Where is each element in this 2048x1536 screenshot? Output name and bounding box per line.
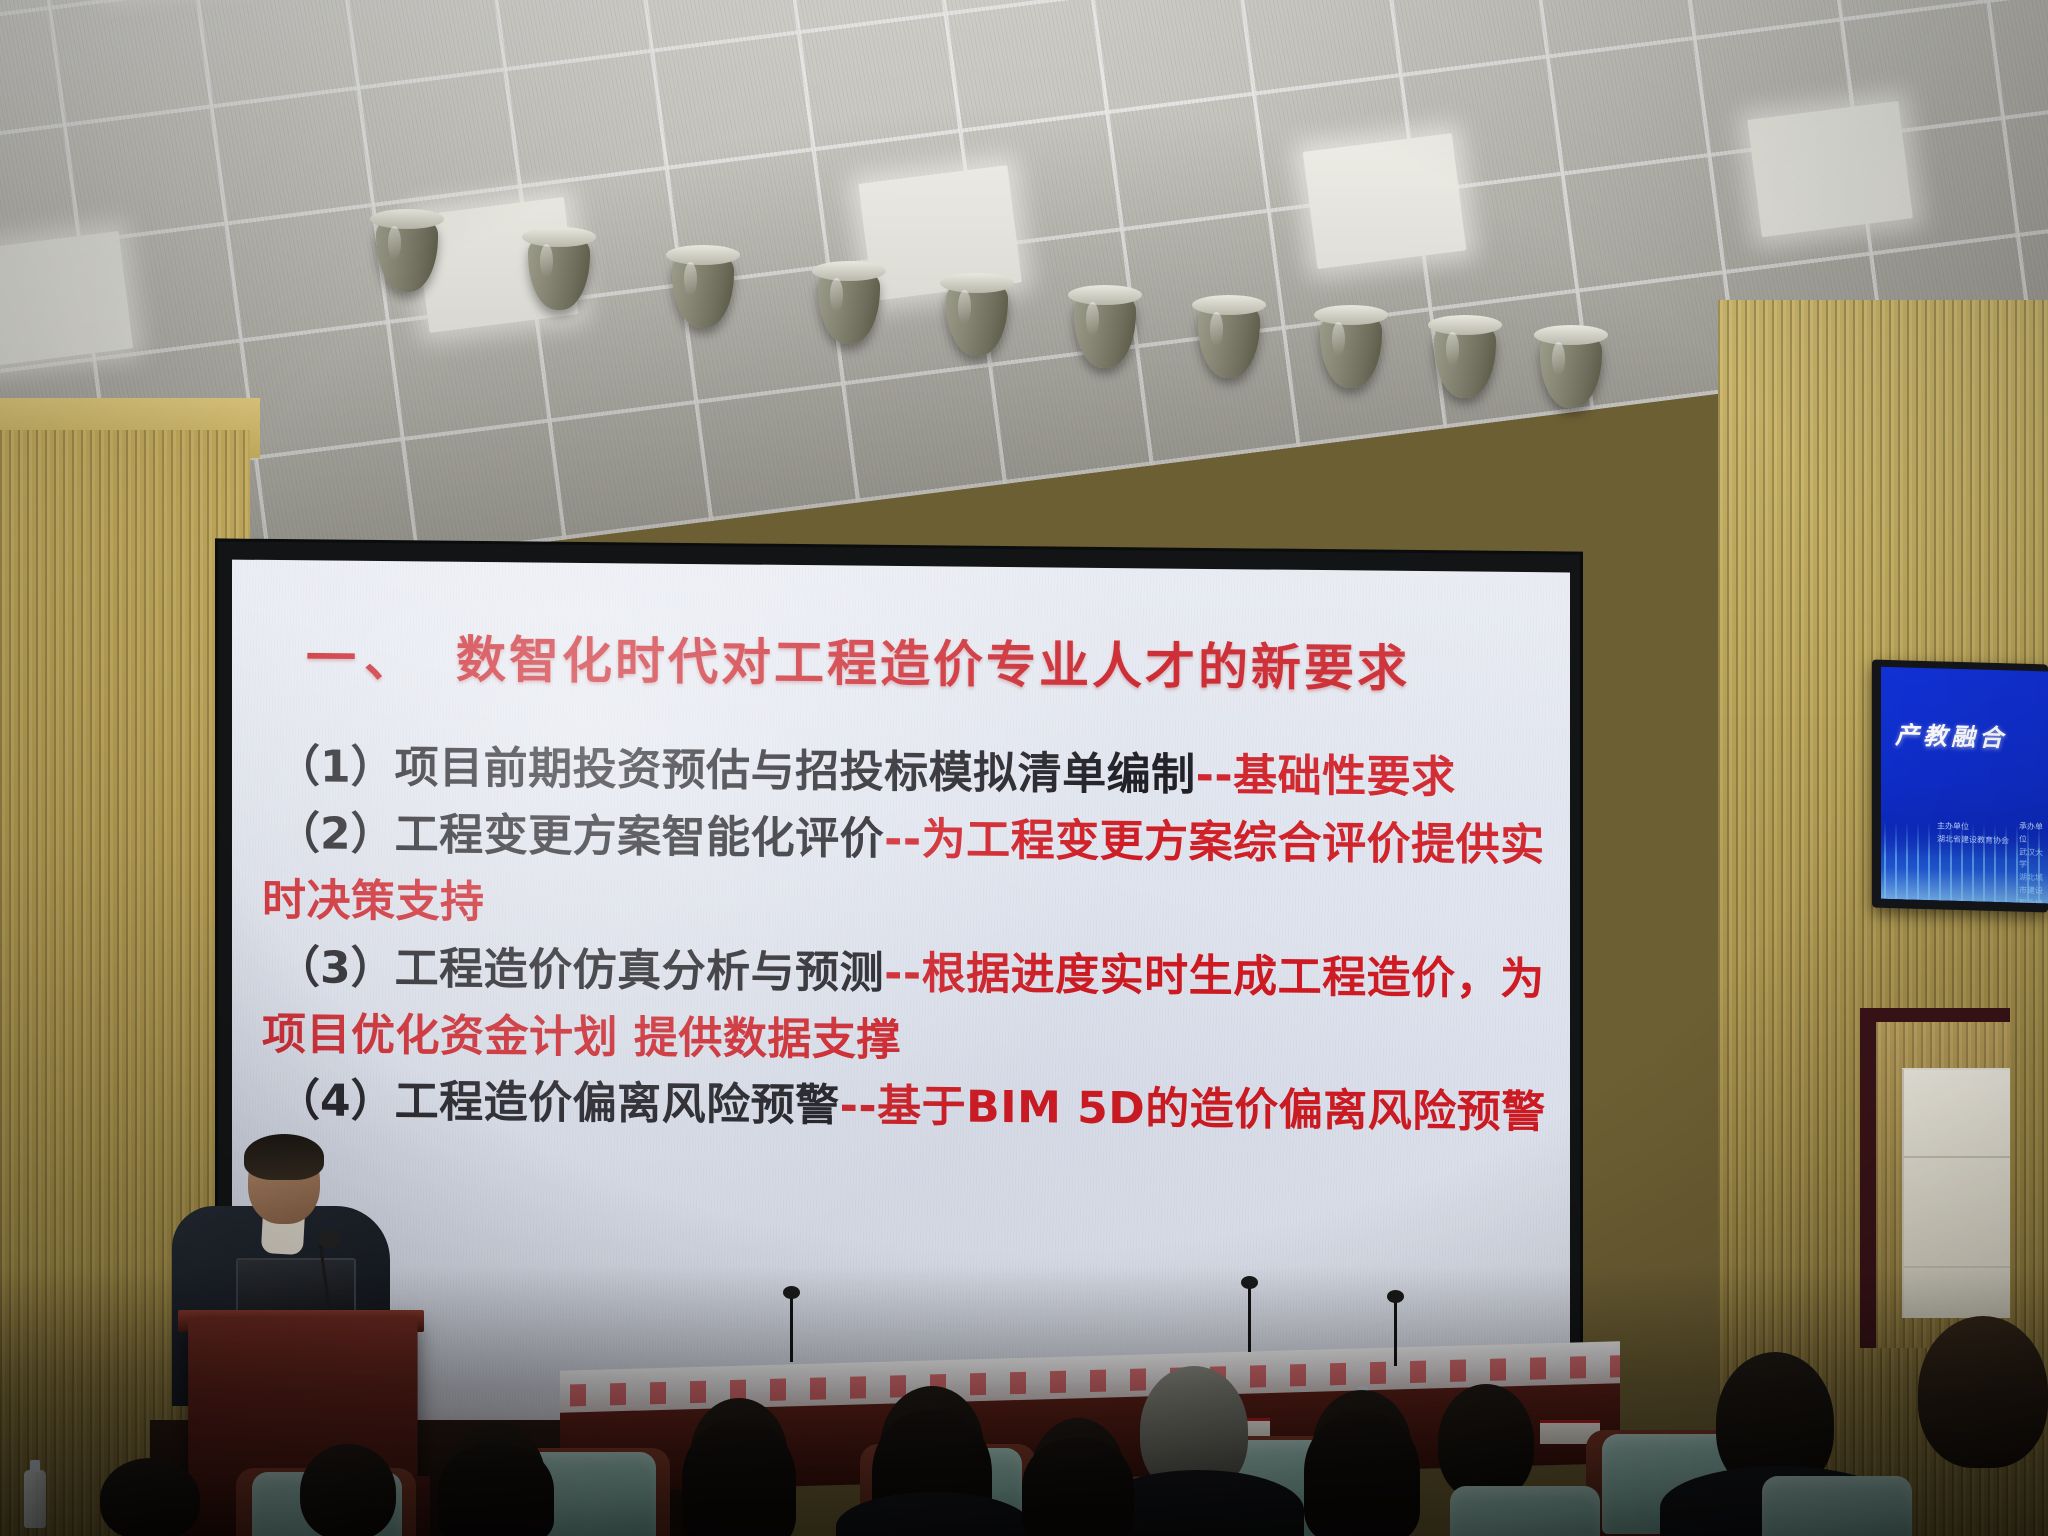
conference-room-photo: 一、数智化时代对工程造价专业人才的新要求 （1）项目前期投资预估与招投标模拟清单… — [0, 0, 2048, 1536]
audience-hair — [1022, 1438, 1134, 1536]
bullet-black-text: 项目前期投资预估与招投标模拟清单编制 — [395, 742, 1196, 801]
audience-head — [1438, 1384, 1534, 1500]
projection-screen[interactable]: 一、数智化时代对工程造价专业人才的新要求 （1）项目前期投资预估与招投标模拟清单… — [232, 560, 1570, 1455]
cabinet-ac-unit — [1902, 1068, 2010, 1318]
table-microphone — [1248, 1288, 1251, 1352]
bullet-index: （1） — [276, 741, 395, 793]
bullet-black-text: 工程造价偏离风险预警 — [395, 1077, 840, 1132]
table-microphone — [790, 1298, 793, 1362]
list-item: （2）工程变更方案智能化评价--为工程变更方案综合评价提供实 — [276, 801, 1540, 880]
speaker-hair — [244, 1134, 324, 1180]
slide-title-text: 数智化时代对工程造价专业人才的新要求 — [456, 631, 1410, 698]
bullet-separator: -- — [1196, 750, 1234, 801]
podium-microphone-head — [318, 1230, 340, 1248]
audience-hair — [1304, 1412, 1420, 1536]
bullet-black-text: 工程变更方案智能化评价 — [395, 809, 885, 865]
bullet-separator: -- — [884, 947, 922, 998]
audience-seat — [1762, 1476, 1912, 1536]
list-item: （3）工程造价仿真分析与预测--根据进度实时生成工程造价，为 — [276, 935, 1540, 1014]
audience-hair — [438, 1444, 554, 1536]
bullet-red-wrap: 时决策支持 — [262, 868, 1540, 947]
bullet-index: （2） — [276, 808, 395, 860]
bullet-black-text: 工程造价仿真分析与预测 — [395, 943, 885, 999]
slide-bullet-list: （1）项目前期投资预估与招投标模拟清单编制--基础性要求 （2）工程变更方案智能… — [276, 734, 1540, 1147]
audience-seat — [1450, 1486, 1600, 1536]
bullet-separator: -- — [840, 1081, 878, 1132]
bullet-separator: -- — [884, 814, 922, 865]
table-microphone — [1394, 1302, 1397, 1366]
side-monitor-screen[interactable]: 产教融合 主办单位 湖北省建设教育协会 承办单位 武汉大学 湖北城市建设职业技术… — [1881, 667, 2048, 904]
presentation-slide: 一、数智化时代对工程造价专业人才的新要求 （1）项目前期投资预估与招投标模拟清单… — [232, 560, 1570, 1455]
slide-title-number: 一、 — [306, 629, 422, 688]
bullet-red-wrap: 项目优化资金计划 提供数据支撑 — [262, 1001, 1540, 1080]
audience-head — [100, 1458, 200, 1536]
bullet-red-text: 基于BIM 5D的造价偏离风险预警 — [877, 1081, 1546, 1138]
side-monitor-bezel: 产教融合 主办单位 湖北省建设教育协会 承办单位 武汉大学 湖北城市建设职业技术… — [1872, 660, 2048, 913]
audience-head — [300, 1444, 396, 1536]
slide-title: 一、数智化时代对工程造价专业人才的新要求 — [306, 618, 1540, 702]
bullet-red-text: 为工程变更方案综合评价提供实 — [922, 814, 1545, 871]
bullet-red-text: 根据进度实时生成工程造价，为 — [922, 948, 1545, 1005]
doorway — [1860, 1008, 2010, 1348]
bullet-index: （3） — [276, 942, 395, 994]
water-bottle — [24, 1470, 46, 1528]
side-monitor-title: 产教融合 — [1895, 715, 2007, 753]
list-item: （1）项目前期投资预估与招投标模拟清单编制--基础性要求 — [276, 734, 1540, 813]
list-item: （4）工程造价偏离风险预警--基于BIM 5D的造价偏离风险预警 — [276, 1068, 1540, 1147]
audience-head — [1918, 1316, 2048, 1468]
bullet-index: （4） — [276, 1075, 395, 1127]
bullet-red-text: 基础性要求 — [1233, 750, 1456, 803]
audience-hair — [682, 1420, 796, 1536]
monitor-skyline-graphic — [1881, 821, 2048, 904]
